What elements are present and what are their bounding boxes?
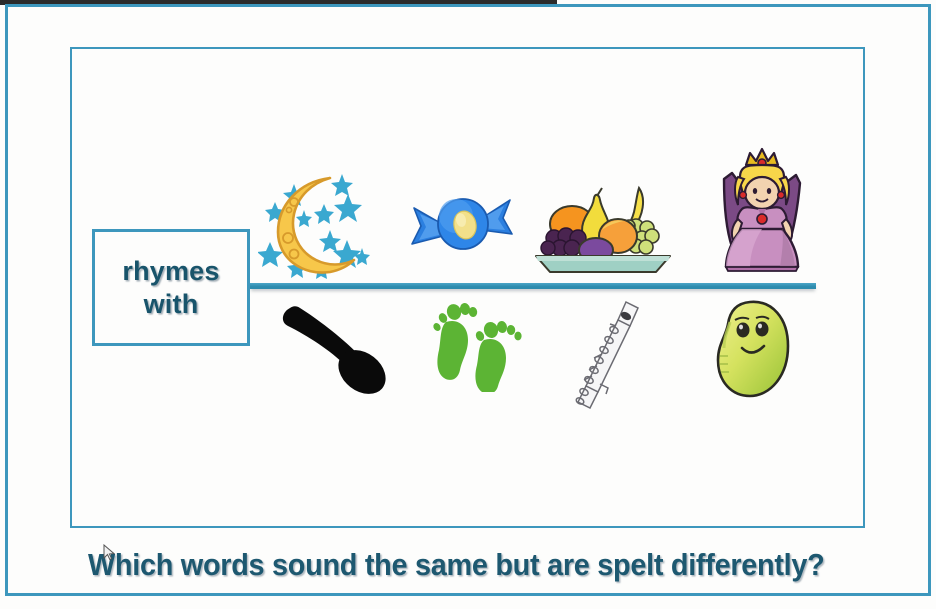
bean-icon <box>704 296 804 402</box>
picture-bean <box>704 296 804 402</box>
picture-spoon <box>272 296 398 400</box>
picture-fruit-bowl <box>532 172 674 278</box>
arrow-pointer-icon <box>103 544 115 561</box>
fruit-bowl-icon <box>532 172 674 278</box>
rhymes-with-line-1: rhymes <box>122 255 219 288</box>
rhymes-with-box: rhymes with <box>92 229 250 346</box>
princess-icon <box>702 143 820 281</box>
picture-sweet <box>408 178 516 270</box>
slide-canvas: rhymes with <box>0 0 936 609</box>
flute-icon <box>552 296 656 412</box>
spoon-icon <box>272 296 398 400</box>
picture-princess <box>702 143 820 281</box>
row-divider <box>250 283 816 289</box>
rhymes-with-line-2: with <box>144 288 199 321</box>
candy-icon <box>408 178 516 270</box>
picture-moon <box>258 162 378 280</box>
footprints-icon <box>428 302 526 392</box>
picture-flute <box>552 296 656 412</box>
picture-feet <box>428 302 526 392</box>
moon-icon <box>258 162 378 280</box>
caption-question: Which words sound the same but are spelt… <box>88 542 832 588</box>
